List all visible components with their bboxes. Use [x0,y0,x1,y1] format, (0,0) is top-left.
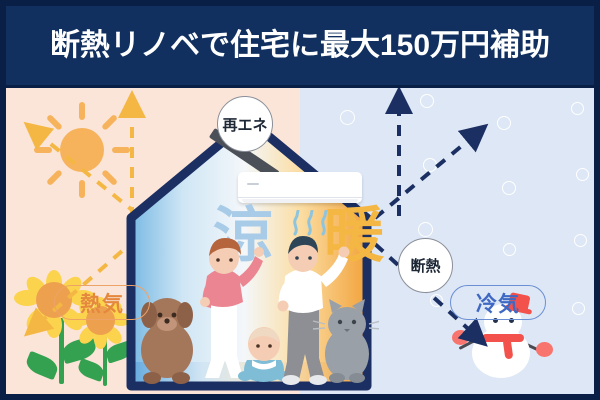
badge-hot-air: 熱気 [54,285,150,320]
illustration-scene: 涼 暖 [6,88,594,394]
page-title: 断熱リノベで住宅に最大150万円補助 [50,31,550,61]
house-illustration: 涼 暖 [119,110,379,394]
family-and-pets-group [119,110,379,394]
title-bar: 断熱リノベで住宅に最大150万円補助 [6,6,594,85]
badge-renewable-energy: 再エネ [217,96,273,152]
poster: 断熱リノベで住宅に最大150万円補助 [0,0,600,400]
badge-insulation: 断熱 [398,238,453,293]
baby-icon [238,327,290,382]
dog-icon [141,298,193,384]
badge-cold-air: 冷気 [450,285,546,320]
cat-icon [313,299,379,383]
arrow-cold-upright [375,134,476,218]
